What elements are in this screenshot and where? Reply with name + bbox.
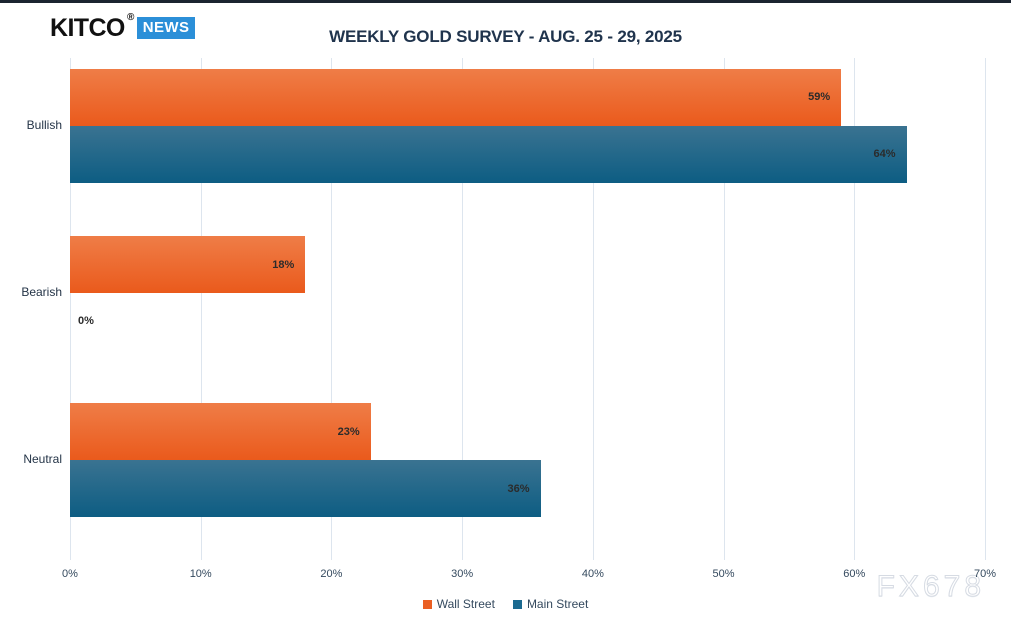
- registered-trademark-icon: ®: [127, 13, 134, 23]
- fx678-watermark: FX678: [877, 570, 985, 604]
- x-axis-tick-label: 50%: [713, 568, 735, 580]
- gridline-70: [985, 58, 986, 560]
- x-axis-tick-label: 20%: [320, 568, 342, 580]
- x-axis-tick-label: 0%: [62, 568, 78, 580]
- bar-bearish-wall-street[interactable]: 18%: [70, 236, 305, 293]
- category-label-bullish: Bullish: [0, 118, 62, 132]
- bar-value-label: 36%: [508, 483, 541, 495]
- legend-label: Main Street: [527, 597, 588, 611]
- legend-item-main-street[interactable]: Main Street: [513, 597, 588, 611]
- bar-value-label-zero: 0%: [78, 315, 94, 327]
- chart-page: KITCO ® NEWS WEEKLY GOLD SURVEY - AUG. 2…: [0, 0, 1011, 628]
- bar-bullish-wall-street[interactable]: 59%: [70, 69, 841, 126]
- legend-swatch-icon: [513, 600, 522, 609]
- bar-neutral-main-street[interactable]: 36%: [70, 460, 541, 517]
- bar-value-label: 18%: [272, 259, 305, 271]
- legend-swatch-icon: [423, 600, 432, 609]
- bar-value-label: 23%: [338, 426, 371, 438]
- plot-area: 59%64%18%0%23%36%: [70, 58, 985, 560]
- x-axis-tick-label: 10%: [190, 568, 212, 580]
- legend-item-wall-street[interactable]: Wall Street: [423, 597, 495, 611]
- x-axis-tick-label: 30%: [451, 568, 473, 580]
- x-axis-tick-label: 40%: [582, 568, 604, 580]
- category-axis: BullishBearishNeutral: [0, 58, 62, 560]
- chart-legend: Wall StreetMain Street: [0, 597, 1011, 611]
- top-accent-bar: [0, 0, 1011, 3]
- x-axis-tick-label: 60%: [843, 568, 865, 580]
- bar-value-label: 64%: [874, 148, 907, 160]
- chart-title: WEEKLY GOLD SURVEY - AUG. 25 - 29, 2025: [0, 27, 1011, 47]
- bar-bullish-main-street[interactable]: 64%: [70, 126, 907, 183]
- category-label-bearish: Bearish: [0, 285, 62, 299]
- category-label-neutral: Neutral: [0, 452, 62, 466]
- bar-value-label: 59%: [808, 91, 841, 103]
- legend-label: Wall Street: [437, 597, 495, 611]
- bar-neutral-wall-street[interactable]: 23%: [70, 403, 371, 460]
- x-axis-tick-label: 70%: [974, 568, 996, 580]
